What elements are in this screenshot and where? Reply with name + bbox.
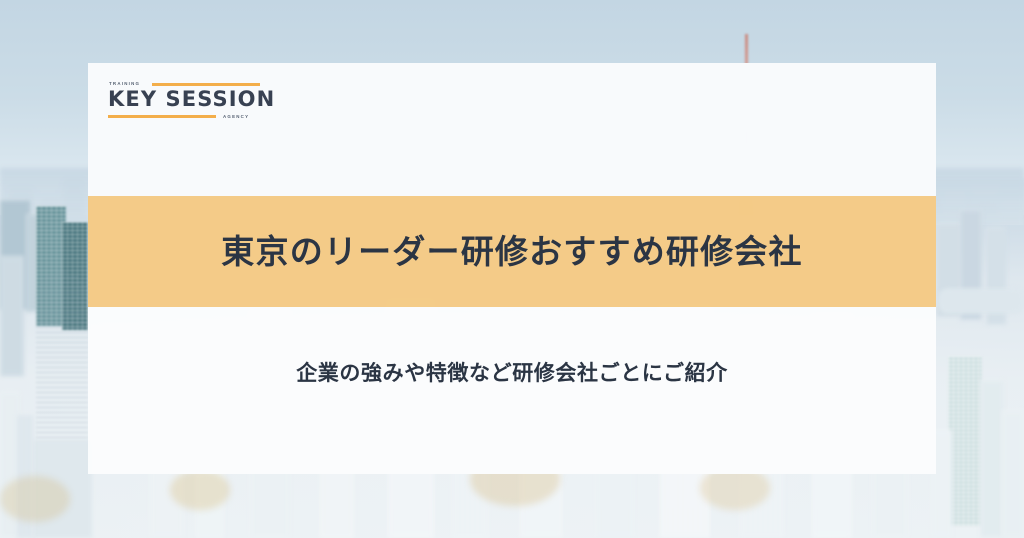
key-session-logo[interactable]: TRAINING KEY SESSION AGENCY — [108, 73, 260, 125]
stadium-roof — [938, 288, 1024, 314]
autumn-trees — [170, 470, 230, 510]
page-subtitle: 企業の強みや特徴など研修会社ごとにご紹介 — [296, 363, 728, 384]
page-title: 東京のリーダー研修おすすめ研修会社 — [221, 235, 802, 268]
logo-micro-training: TRAINING — [109, 82, 140, 86]
logo-micro-agency: AGENCY — [223, 115, 249, 119]
city-building — [1002, 410, 1024, 538]
content-card: TRAINING KEY SESSION AGENCY 東京のリーダー研修おすす… — [88, 63, 936, 474]
autumn-trees — [0, 476, 70, 522]
city-building — [0, 256, 24, 376]
glass-tower-right — [948, 356, 982, 526]
curved-landmark-tower — [36, 272, 88, 462]
city-building — [980, 380, 1004, 538]
logo-rule-top — [152, 83, 260, 86]
logo-rule-bottom — [108, 115, 216, 118]
cover-image: TRAINING KEY SESSION AGENCY 東京のリーダー研修おすす… — [0, 0, 1024, 538]
title-band: 東京のリーダー研修おすすめ研修会社 — [88, 196, 936, 307]
logo-wordmark: KEY SESSION — [108, 89, 275, 110]
subtitle-row: 企業の強みや特徴など研修会社ごとにご紹介 — [88, 363, 936, 384]
card-bottom-panel — [88, 307, 936, 474]
